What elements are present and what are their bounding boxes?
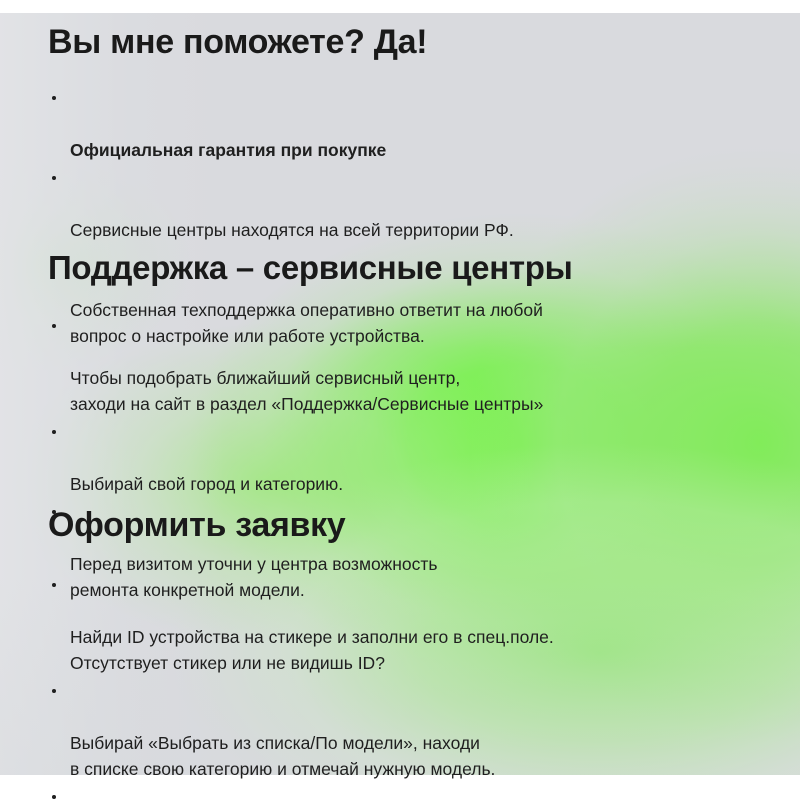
list-item: Найди ID устройства на стикере и заполни… [46,572,776,676]
bullet-dot-icon [52,689,56,693]
bullet-dot-icon [52,583,56,587]
section-heading: Поддержка – сервисные центры [48,247,776,289]
list-item-text: Официальная гарантия при покупке [70,140,386,160]
section-heading: Оформить заявку [48,504,776,546]
bullet-dot-icon [52,324,56,328]
list-item: Сервисные центры находятся на всей терри… [46,165,776,243]
list-item: Заполняй данные со * и отправляй обращен… [46,784,776,800]
bullet-dot-icon [52,176,56,180]
list-item-text: Выбирай «Выбрать из списка/По модели», н… [70,733,495,779]
bullet-dot-icon [52,430,56,434]
top-white-band [0,0,800,13]
bullet-list: Найди ID устройства на стикере и заполни… [46,572,776,800]
list-item-text: Найди ID устройства на стикере и заполни… [70,627,554,673]
list-item-text: Сервисные центры находятся на всей терри… [70,220,514,240]
list-item: Официальная гарантия при покупке [46,85,776,163]
list-item-text: Чтобы подобрать ближайший сервисный цент… [70,368,543,414]
list-item: Чтобы подобрать ближайший сервисный цент… [46,313,776,417]
list-item: Выбирай «Выбрать из списка/По модели», н… [46,678,776,782]
section-submit-request: Оформить заявку Найди ID устройства на с… [46,504,776,800]
section-heading: Вы мне поможете? Да! [48,21,776,63]
list-item-text: Выбирай свой город и категорию. [70,474,343,494]
promo-slide: Вы мне поможете? Да! Официальная гаранти… [0,0,800,800]
bullet-dot-icon [52,96,56,100]
list-item: Выбирай свой город и категорию. [46,419,776,497]
bullet-dot-icon [52,795,56,799]
